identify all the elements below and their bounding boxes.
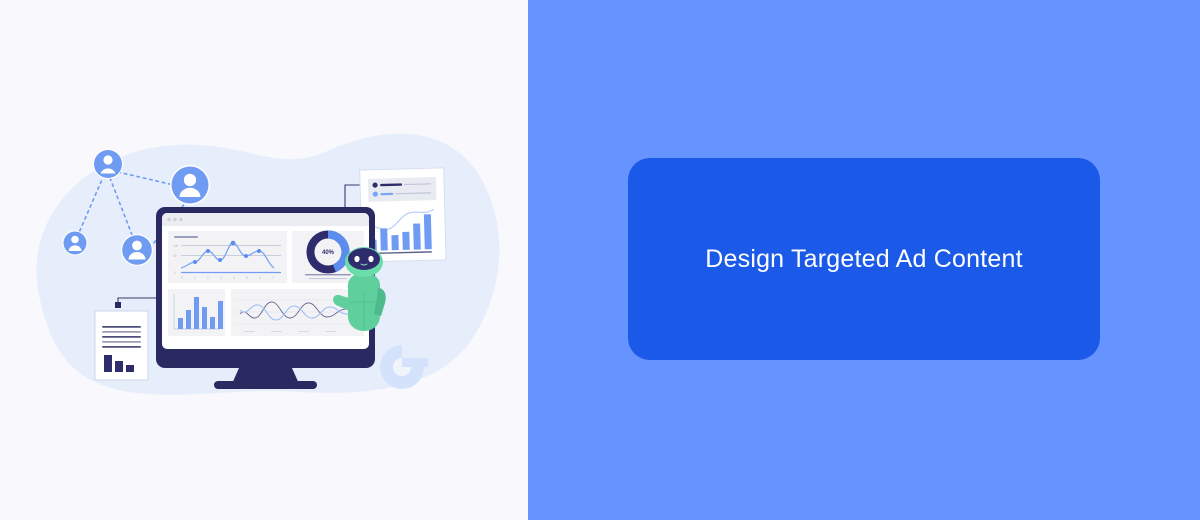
svg-text:4: 4 bbox=[233, 276, 235, 280]
svg-text:2: 2 bbox=[207, 276, 209, 280]
svg-text:100: 100 bbox=[173, 244, 179, 248]
svg-text:5: 5 bbox=[246, 276, 248, 280]
svg-text:3: 3 bbox=[220, 276, 222, 280]
illustration-panel: 100 50 0 0 1 2 3 4 5 6 7 bbox=[0, 0, 528, 520]
promo-banner: 100 50 0 0 1 2 3 4 5 6 7 bbox=[0, 0, 1200, 520]
svg-text:1: 1 bbox=[194, 276, 196, 280]
svg-text:0: 0 bbox=[174, 271, 176, 275]
svg-text:6: 6 bbox=[259, 276, 261, 280]
svg-text:7: 7 bbox=[272, 276, 274, 280]
window-dots bbox=[167, 218, 182, 221]
cta-card[interactable]: Design Targeted Ad Content bbox=[628, 158, 1100, 360]
document-card bbox=[95, 311, 148, 380]
cta-title: Design Targeted Ad Content bbox=[705, 243, 1022, 276]
cta-panel: Design Targeted Ad Content bbox=[528, 0, 1200, 520]
dashboard-wave-chart: | | | bbox=[231, 289, 364, 336]
dashboard-bar-chart bbox=[168, 289, 225, 336]
svg-text:0: 0 bbox=[181, 276, 183, 280]
data-analytics-dashboard-illustration: 100 50 0 0 1 2 3 4 5 6 7 bbox=[0, 0, 528, 520]
avatar-bottom-left bbox=[63, 231, 88, 256]
avatar-top-left bbox=[93, 149, 123, 179]
svg-text:50: 50 bbox=[173, 254, 177, 258]
avatar-top-right bbox=[170, 165, 210, 205]
donut-center-label: 40% bbox=[322, 250, 335, 256]
avatar-bottom-center bbox=[121, 234, 153, 266]
dashboard-line-chart: 100 50 0 0 1 2 3 4 5 6 7 bbox=[168, 231, 287, 283]
